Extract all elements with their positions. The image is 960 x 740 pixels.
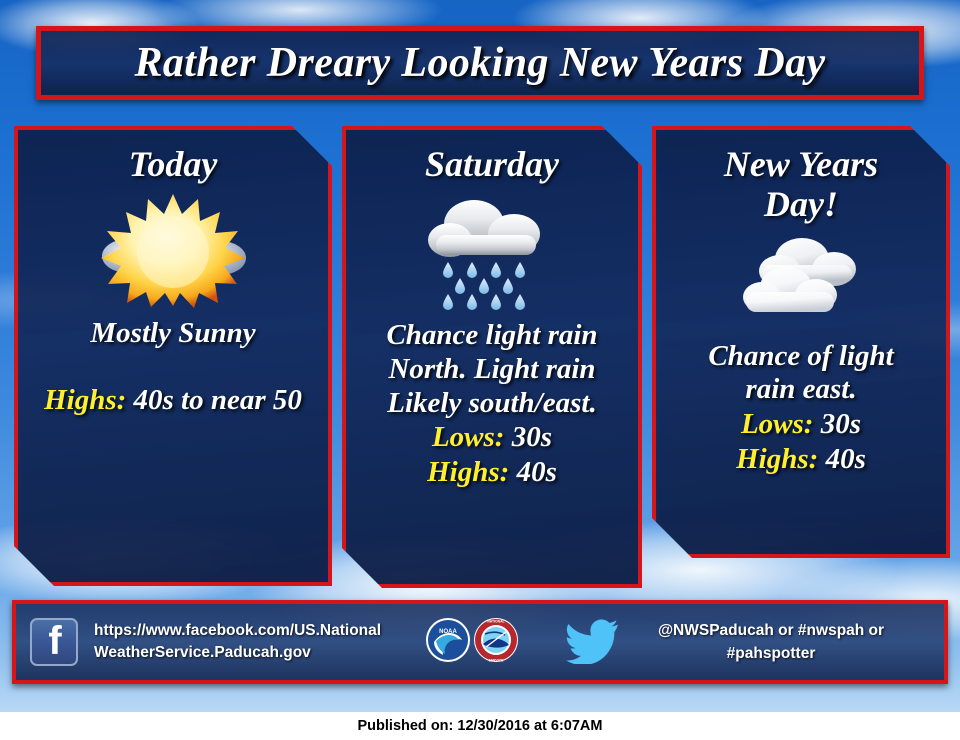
twitter-handles-line: @NWSPaducah or #nwspah or xyxy=(636,619,906,642)
highs-label: Highs: xyxy=(44,384,126,416)
svg-text:NATIONAL: NATIONAL xyxy=(487,619,504,623)
twitter-bird-icon[interactable] xyxy=(564,616,620,669)
nws-logo: NATIONAL SERVICE xyxy=(472,616,520,669)
highs-value: 40s xyxy=(517,456,557,488)
facebook-url-line: https://www.facebook.com/US.National xyxy=(94,620,424,642)
facebook-icon[interactable] xyxy=(30,618,78,666)
day-label-line: Day! xyxy=(724,184,878,224)
forecast-description: Chance light rain North. Light rain Like… xyxy=(386,319,597,420)
highs-value: 40s to near 50 xyxy=(134,384,302,416)
facebook-url-line: WeatherService.Paducah.gov xyxy=(94,642,424,664)
lows-label: Lows: xyxy=(432,421,505,453)
description-line: North. Light rain xyxy=(386,353,597,387)
description-line: Chance of light xyxy=(708,340,893,374)
description-line: Likely south/east. xyxy=(386,387,597,421)
day-label: New Years Day! xyxy=(724,144,878,225)
temperature-line: Highs: 40s xyxy=(427,455,557,490)
lows-value: 30s xyxy=(512,421,552,453)
sun-behind-cloud-icon xyxy=(98,190,248,313)
temperature-line: Lows: 30s xyxy=(741,407,861,442)
published-bar: Published on: 12/30/2016 at 6:07AM xyxy=(0,712,960,740)
svg-text:SERVICE: SERVICE xyxy=(489,658,505,662)
forecast-description: Chance of light rain east. xyxy=(708,340,893,407)
forecast-panel-today: Today Mostly Sunny xyxy=(14,126,332,586)
temperature-line: Highs: 40s to near 50 xyxy=(44,383,302,418)
facebook-url[interactable]: https://www.facebook.com/US.National Wea… xyxy=(94,620,424,665)
lows-value: 30s xyxy=(821,408,861,440)
day-label-line: New Years xyxy=(724,144,878,184)
highs-label: Highs: xyxy=(736,443,818,475)
page-title: Rather Dreary Looking New Years Day xyxy=(134,39,825,87)
lows-label: Lows: xyxy=(741,408,814,440)
description-line: rain east. xyxy=(708,373,893,407)
temperature-line: Highs: 40s xyxy=(736,442,866,477)
day-label: Saturday xyxy=(425,144,559,184)
noaa-logo: NOAA xyxy=(424,616,472,669)
rain-cloud-icon xyxy=(422,190,562,315)
twitter-handles-line: #pahspotter xyxy=(636,642,906,665)
svg-text:NOAA: NOAA xyxy=(439,629,457,635)
forecast-panel-new-years-day: New Years Day! xyxy=(652,126,950,558)
title-banner: Rather Dreary Looking New Years Day xyxy=(36,26,924,100)
published-timestamp: Published on: 12/30/2016 at 6:07AM xyxy=(358,718,603,734)
cloudy-icon xyxy=(736,231,866,336)
forecast-panel-saturday: Saturday xyxy=(342,126,642,588)
temperature-line: Lows: 30s xyxy=(432,420,552,455)
highs-value: 40s xyxy=(826,443,866,475)
social-footer-bar: https://www.facebook.com/US.National Wea… xyxy=(12,600,948,684)
highs-label: Highs: xyxy=(427,456,509,488)
twitter-handles[interactable]: @NWSPaducah or #nwspah or #pahspotter xyxy=(636,619,906,666)
day-label: Today xyxy=(129,144,218,184)
forecast-description: Mostly Sunny xyxy=(90,317,255,351)
description-line: Chance light rain xyxy=(386,319,597,353)
